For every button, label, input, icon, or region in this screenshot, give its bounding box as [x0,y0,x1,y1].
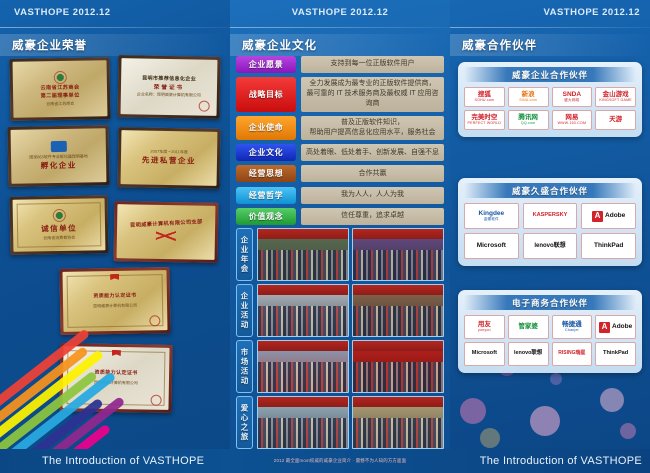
photo-company-conference[interactable] [352,284,444,337]
footer-center-text: 2012 最全面most权威的威豪企业简介 · 震憾不为人知的方方面面 [274,458,406,464]
photo-annual-meeting-stage[interactable] [352,228,444,281]
logo-snda[interactable]: SNDA盛大网络 [552,87,593,107]
adobe-mark-icon: A [599,322,610,333]
panel-honors: VASTHOPE 2012.12 威豪企业荣誉 云南省江苏商会 第二届理事单位 … [0,0,230,473]
mid-header-band: VASTHOPE 2012.12 [230,0,450,27]
culture-content-management-thought: 合作共赢 [301,165,444,182]
red-seal-icon [199,101,210,112]
culture-row: 企业文化 高处着眼、低处着手、创新发展、自强不息 [236,144,444,161]
footer-right-text: The Introduction of VASTHOPE [480,455,642,467]
culture-label-vision[interactable]: 企业愿景 [236,56,296,73]
logo-sina[interactable]: 新浪SINA.com [508,87,549,107]
emblem-icon [53,71,66,84]
culture-content-mission: 普及正版软件知识，帮助用户提高信息化应用水平，服务社会 [301,116,444,140]
photo-company-training[interactable] [257,284,349,337]
photo-category-annual-meeting[interactable]: 企业年会 [236,228,253,281]
logo-lenovo[interactable]: lenovo联想 [523,233,578,259]
section-title-partners: 威豪合作伙伴 [450,34,650,56]
logo-adobe[interactable]: AAdobe [595,315,636,339]
certificate-qualification-certificate-lower: 资质能力认定证书 昆明威豪计算机有限公司 [59,343,172,413]
logo-kaspersky[interactable]: KASPERSKY [523,203,578,229]
footer-left-text: The Introduction of VASTHOPE [42,455,204,467]
logo-microsoft[interactable]: Microsoft [464,342,505,366]
photo-category-market-activity[interactable]: 市场活动 [236,340,253,393]
adobe-mark-icon: A [592,211,603,222]
party-emblem-icon [156,229,176,243]
culture-label-management-thought[interactable]: 经营思想 [236,165,296,182]
culture-label-philosophy[interactable]: 经营哲学 [236,187,296,204]
left-header-band: VASTHOPE 2012.12 [0,0,230,27]
culture-content-vision: 支持到每一位正版软件用户 [301,56,444,73]
culture-row: 企业愿景 支持到每一位正版软件用户 [236,56,444,73]
certificate-integrity-unit-plaque: 诚信单位 云南省消费者协会 [10,195,109,255]
certificate-incubation-enterprise-plaque: 国家863软件专业孵化器昆明基地 孵化企业 [7,125,109,187]
logo-perfect-world[interactable]: 完美时空PERFECT WORLD [464,110,505,130]
partner-logo-grid: Kingdee金蝶软件 KASPERSKY AAdobe Microsoft l… [464,203,636,259]
certificate-advanced-private-enterprise-plaque: 2007年度－2011年度 先进私营企业 [117,127,220,189]
logo-kingdee[interactable]: Kingdee金蝶软件 [464,203,519,229]
section-title-culture: 威豪企业文化 [230,34,450,56]
logo-thinkpad[interactable]: ThinkPad [595,342,636,366]
culture-label-mission[interactable]: 企业使命 [236,116,296,140]
right-header-band: VASTHOPE 2012.12 [450,0,650,27]
photo-group: 爱心之旅 [236,396,444,449]
partner-card-jiusheng: 威豪久盛合作伙伴 Kingdee金蝶软件 KASPERSKY AAdobe Mi… [458,178,642,266]
photo-group: 企业活动 [236,284,444,337]
partner-card-ecommerce: 电子商务合作伙伴 用友yonyou 管家婆 畅捷通Chanjet AAdobe … [458,290,642,373]
brand-center: VASTHOPE 2012.12 [292,7,389,18]
brand-left: VASTHOPE 2012.12 [14,7,111,18]
culture-label-strategy[interactable]: 战略目标 [236,77,296,111]
logo-chanjet[interactable]: 畅捷通Chanjet [552,315,593,339]
photo-charity-village[interactable] [352,396,444,449]
footer-left: The Introduction of VASTHOPE [0,449,230,473]
logo-lenovo[interactable]: lenovo联想 [508,342,549,366]
plate-border-deco [17,202,102,247]
logo-sohu[interactable]: 搜狐SOHU.com [464,87,505,107]
photo-group: 市场活动 [236,340,444,393]
certificate-wall: 云南省江苏商会 第二届理事单位 云南省江苏商会 昆明市推荐信息化企业 荣誉证书 … [8,56,222,446]
logo-adobe[interactable]: AAdobe [581,203,636,229]
logo-microsoft[interactable]: Microsoft [464,233,519,259]
photo-annual-meeting-group[interactable] [257,228,349,281]
partner-logo-grid: 搜狐SOHU.com 新浪SINA.com SNDA盛大网络 金山游戏KINGS… [464,87,636,130]
certificate-party-branch-plaque: 昆明威豪计算机有限公司支部 [113,201,218,263]
brand-right: VASTHOPE 2012.12 [543,7,640,18]
partner-logo-grid: 用友yonyou 管家婆 畅捷通Chanjet AAdobe Microsoft… [464,315,636,366]
photo-category-charity-trip[interactable]: 爱心之旅 [236,396,253,449]
culture-content-philosophy: 我为人人，人人为我 [301,187,444,204]
slide-stage: VASTHOPE 2012.12 威豪企业荣誉 云南省江苏商会 第二届理事单位 … [0,0,650,473]
panel-culture: VASTHOPE 2012.12 威豪企业文化 企业愿景 支持到每一位正版软件用… [230,0,450,473]
logo-tianyou[interactable]: 天游 [595,110,636,130]
culture-row: 战略目标 全力发展成为最专业的正版软件提供商，最可靠的 IT 技术服务商及最权威… [236,77,444,111]
culture-content-strategy: 全力发展成为最专业的正版软件提供商，最可靠的 IT 技术服务商及最权威 IT 应… [301,77,444,111]
culture-label-values[interactable]: 价值观念 [236,208,296,225]
photo-market-roadshow[interactable] [257,340,349,393]
certificate-kunming-informatization-cert: 昆明市推荐信息化企业 荣誉证书 企业名称：昆明威豪计算机有限公司 [117,55,220,119]
logo-thinkpad[interactable]: ThinkPad [581,233,636,259]
culture-content-culture: 高处着眼、低处着手、创新发展、自强不息 [301,144,444,161]
slide-footer: The Introduction of VASTHOPE 2012 最全面mos… [0,449,650,473]
footer-center: 2012 最全面most权威的威豪企业简介 · 震憾不为人知的方方面面 [230,449,450,473]
footer-right: The Introduction of VASTHOPE [450,449,650,473]
panel-partners: VASTHOPE 2012.12 威豪合作伙伴 威豪企业合作伙伴 搜狐SOHU.… [450,0,650,473]
logo-rising[interactable]: RISING瑞星 [552,342,593,366]
culture-table: 企业愿景 支持到每一位正版软件用户 战略目标 全力发展成为最专业的正版软件提供商… [236,56,444,229]
header-divider-mid [230,27,450,28]
header-divider-right [450,27,650,28]
photo-market-promotion-520[interactable] [352,340,444,393]
photo-gallery: 企业年会 企业活动 市场活动 [236,228,444,452]
culture-row: 经营思想 合作共赢 [236,165,444,182]
logo-guanjiapo[interactable]: 管家婆 [508,315,549,339]
culture-label-culture[interactable]: 企业文化 [236,144,296,161]
culture-row: 价值观念 信任尊重，追求卓越 [236,208,444,225]
certificate-qualification-certificate-upper: 资质能力认定证书 昆明威豪计算机有限公司 [59,267,170,335]
culture-row: 企业使命 普及正版软件知识，帮助用户提高信息化应用水平，服务社会 [236,116,444,140]
header-divider-left [0,27,230,28]
logo-netease[interactable]: 网易WWW.163.COM [552,110,593,130]
section-title-honors: 威豪企业荣誉 [0,34,230,56]
863-logo-icon [50,141,66,152]
partner-card-title: 电子商务合作伙伴 [464,295,636,310]
culture-row: 经营哲学 我为人人，人人为我 [236,187,444,204]
photo-group: 企业年会 [236,228,444,281]
logo-tencent[interactable]: 腾讯网QQ.com [508,110,549,130]
certificate-jiangsu-chamber-plaque: 云南省江苏商会 第二届理事单位 云南省江苏商会 [9,57,110,121]
logo-kingsoft[interactable]: 金山游戏KINGSOFT GAME [595,87,636,107]
photo-charity-visit[interactable] [257,396,349,449]
culture-content-values: 信任尊重，追求卓越 [301,208,444,225]
logo-yonyou[interactable]: 用友yonyou [464,315,505,339]
partner-card-enterprise: 威豪企业合作伙伴 搜狐SOHU.com 新浪SINA.com SNDA盛大网络 … [458,62,642,137]
partner-card-title: 威豪久盛合作伙伴 [464,183,636,198]
photo-category-company-activity[interactable]: 企业活动 [236,284,253,337]
partner-card-title: 威豪企业合作伙伴 [464,67,636,82]
